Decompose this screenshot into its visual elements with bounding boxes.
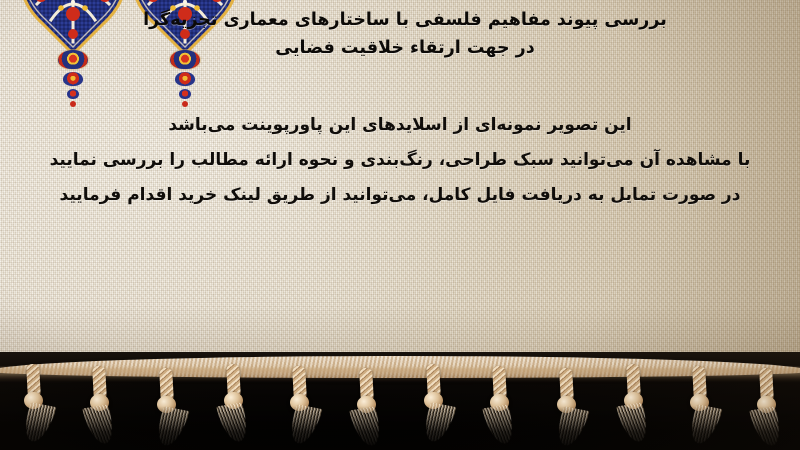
presentation-slide: بررسی پیوند مفاهیم فلسفی با ساختارهای مع… [0, 0, 800, 450]
pendant-drop [179, 89, 191, 99]
body-line-1: این تصویر نمونه‌ای از اسلایدهای این پاور… [12, 108, 788, 143]
pendant-drop [63, 72, 83, 86]
pendant-drop [67, 89, 79, 99]
pendant-drop [70, 101, 76, 107]
slide-title: بررسی پیوند مفاهیم فلسفی با ساختارهای مع… [20, 6, 790, 62]
fringe-fade [0, 406, 800, 450]
title-line-2: در جهت ارتقاء خلاقیت فضایی [20, 34, 790, 62]
pendant-drop [182, 101, 188, 107]
pendant-drop [175, 72, 195, 86]
body-line-3: در صورت تمایل به دریافت فایل کامل، می‌تو… [12, 178, 788, 213]
carpet-fringe-tassels [0, 352, 800, 450]
title-line-1: بررسی پیوند مفاهیم فلسفی با ساختارهای مع… [20, 6, 790, 34]
slide-body: این تصویر نمونه‌ای از اسلایدهای این پاور… [12, 108, 788, 213]
body-line-2: با مشاهده آن می‌توانید سبک طراحی، رنگ‌بن… [12, 143, 788, 178]
